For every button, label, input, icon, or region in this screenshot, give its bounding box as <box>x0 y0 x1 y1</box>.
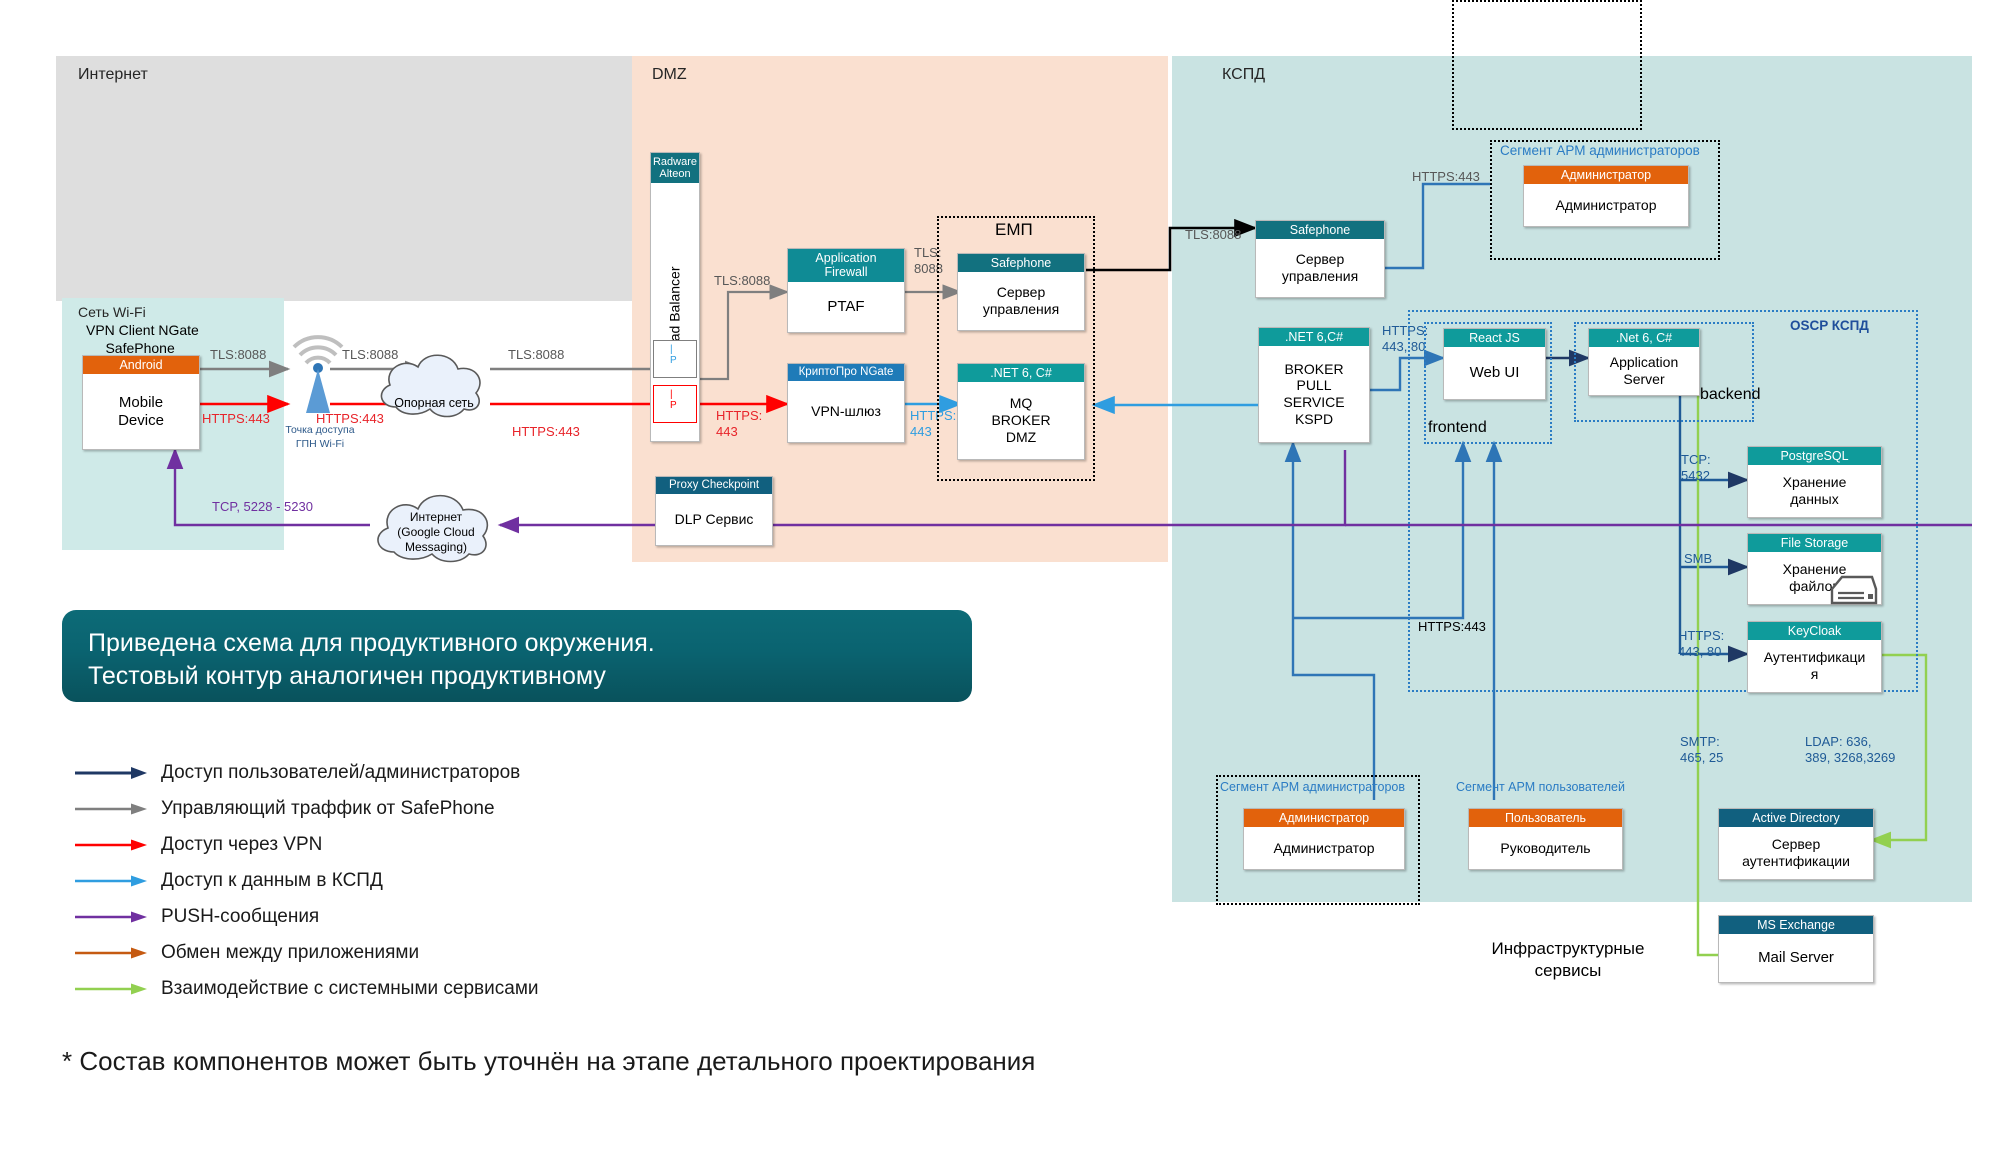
node-emp-mgmt-server[interactable]: Safephone Сервер управления <box>957 253 1085 331</box>
link-label-l21: SMTP: 465, 25 <box>1680 734 1723 765</box>
info-banner-text: Приведена схема для продуктивного окруже… <box>88 629 655 690</box>
legend-item: PUSH-сообщения <box>75 899 539 935</box>
link-label-l12: TCP, 5228 - 5230 <box>212 500 313 515</box>
lb-port-gray-glyph: |P <box>670 345 677 366</box>
node-web-ui-body: Web UI <box>1444 347 1545 399</box>
link-label-l13: HTTPS:443 <box>1412 170 1480 185</box>
wifi-client-label: VPN Client NGate SafePhone <box>86 322 199 357</box>
link-label-l2: TLS:8088 <box>342 348 398 363</box>
group-oscp-kspd-title: OSCP КСПД <box>1790 318 1869 333</box>
link-label-l17: TCP: 5432 <box>1681 452 1711 483</box>
node-admin-bottom[interactable]: Администратор Администратор <box>1243 808 1405 870</box>
node-mobile-device-body: Mobile Device <box>83 374 199 449</box>
legend-item: Взаимодействие с системными сервисами <box>75 971 539 1007</box>
node-file-storage-header: File Storage <box>1748 534 1881 552</box>
link-label-l19: HTTPS: 443, 80 <box>1678 628 1724 659</box>
node-ms-exchange[interactable]: MS Exchange Mail Server <box>1718 915 1874 983</box>
node-postgresql-header: PostgreSQL <box>1748 447 1881 465</box>
legend-item-label: Доступ через VPN <box>161 834 322 856</box>
node-vpn-gateway-header: КриптоПро NGate <box>788 364 904 381</box>
group-emp-title: ЕМП <box>995 220 1033 240</box>
legend-item: Доступ к данным в КСПД <box>75 863 539 899</box>
node-broker-pull-service[interactable]: .NET 6,C# BROKER PULL SERVICE KSPD <box>1258 327 1370 443</box>
link-label-l8: HTTPS: 443 <box>716 408 762 439</box>
link-label-l18: SMB <box>1684 552 1712 567</box>
node-broker-pull-service-body: BROKER PULL SERVICE KSPD <box>1259 346 1369 442</box>
node-web-ui-header: React JS <box>1444 329 1545 347</box>
footnote: * Состав компонентов может быть уточнён … <box>62 1046 1035 1077</box>
node-safephone-server-header: Safephone <box>1256 221 1384 239</box>
node-admin-top-body: Администратор <box>1524 184 1688 226</box>
node-dlp-service[interactable]: Proxy Checkpoint DLP Сервис <box>655 476 773 546</box>
node-ptaf-body: PTAF <box>788 282 904 332</box>
node-dlp-service-header: Proxy Checkpoint <box>656 477 772 494</box>
link-label-l14: TLS:8088 <box>1185 228 1241 243</box>
node-mobile-device-header: Android <box>83 356 199 374</box>
link-label-l22: LDAP: 636, 389, 3268,3269 <box>1805 734 1895 765</box>
node-user-bottom[interactable]: Пользователь Руководитель <box>1468 808 1623 870</box>
legend-item-label: Доступ пользователей/администраторов <box>161 762 520 784</box>
node-application-server-header: .Net 6, C# <box>1589 329 1699 347</box>
legend-item-label: Взаимодействие с системными сервисами <box>161 978 539 1000</box>
link-label-l7: TLS:8088 <box>714 274 770 289</box>
group-user-segment-bottom <box>1452 0 1642 130</box>
node-keycloak-body: Аутентификаци я <box>1748 640 1881 692</box>
node-active-directory[interactable]: Active Directory Сервер аутентификации <box>1718 808 1874 880</box>
legend-item-label: PUSH-сообщения <box>161 906 319 928</box>
node-admin-top-header: Администратор <box>1524 166 1688 184</box>
zone-wifi-label: Сеть Wi-Fi <box>78 304 146 320</box>
group-frontend-title: frontend <box>1428 419 1487 437</box>
group-admin-segment-bottom-title: Сегмент АРМ администраторов <box>1220 780 1405 794</box>
node-keycloak-header: KeyCloak <box>1748 622 1881 640</box>
node-vpn-gateway-body: VPN-шлюз <box>788 381 904 442</box>
node-mq-broker-dmz[interactable]: .NET 6, C# MQ BROKER DMZ <box>957 363 1085 460</box>
node-active-directory-header: Active Directory <box>1719 809 1873 827</box>
access-point-label: Точка доступа ГПН Wi-Fi <box>268 424 372 451</box>
node-ms-exchange-body: Mail Server <box>1719 934 1873 982</box>
legend-item-label: Доступ к данным в КСПД <box>161 870 383 892</box>
node-user-bottom-body: Руководитель <box>1469 827 1622 869</box>
link-label-l4: HTTPS:443 <box>202 412 270 427</box>
link-label-l1: TLS:8088 <box>210 348 266 363</box>
node-ptaf[interactable]: Application Firewall PTAF <box>787 248 905 333</box>
zone-internet-label: Интернет <box>78 66 148 84</box>
node-user-bottom-header: Пользователь <box>1469 809 1622 827</box>
node-web-ui[interactable]: React JS Web UI <box>1443 328 1546 400</box>
node-safephone-server[interactable]: Safephone Сервер управления <box>1255 220 1385 298</box>
storage-icon <box>1822 573 1878 609</box>
node-load-balancer-header: Radware Alteon <box>651 153 699 183</box>
node-admin-bottom-body: Администратор <box>1244 827 1404 869</box>
node-broker-pull-service-header: .NET 6,C# <box>1259 328 1369 346</box>
node-postgresql[interactable]: PostgreSQL Хранение данных <box>1747 446 1882 518</box>
infra-services-label: Инфраструктурные сервисы <box>1468 938 1668 982</box>
node-emp-mgmt-server-body: Сервер управления <box>958 272 1084 330</box>
legend-item-label: Обмен между приложениями <box>161 942 419 964</box>
group-admin-segment-top-title: Сегмент АРМ администраторов <box>1500 143 1700 158</box>
node-mq-broker-dmz-body: MQ BROKER DMZ <box>958 382 1084 459</box>
node-dlp-service-body: DLP Сервис <box>656 494 772 545</box>
node-admin-top[interactable]: Администратор Администратор <box>1523 165 1689 227</box>
cloud-core-network-label: Опорная сеть <box>386 396 482 410</box>
info-banner: Приведена схема для продуктивного окруже… <box>62 610 972 702</box>
node-ms-exchange-header: MS Exchange <box>1719 916 1873 934</box>
node-application-server-body: Application Server <box>1589 347 1699 395</box>
node-ptaf-header: Application Firewall <box>788 249 904 282</box>
legend-item: Доступ через VPN <box>75 827 539 863</box>
node-emp-mgmt-server-header: Safephone <box>958 254 1084 272</box>
node-mq-broker-dmz-header: .NET 6, C# <box>958 364 1084 382</box>
link-label-l5: HTTPS:443 <box>316 412 384 427</box>
legend-item: Управляющий траффик от SafePhone <box>75 791 539 827</box>
legend-item: Доступ пользователей/администраторов <box>75 755 539 791</box>
node-application-server[interactable]: .Net 6, C# Application Server <box>1588 328 1700 396</box>
legend-item-label: Управляющий траффик от SafePhone <box>161 798 495 820</box>
node-admin-bottom-header: Администратор <box>1244 809 1404 827</box>
zone-dmz-label: DMZ <box>652 66 687 84</box>
group-user-segment-bottom-title: Сегмент АРМ пользователей <box>1456 780 1625 794</box>
link-label-l3: TLS:8088 <box>508 348 564 363</box>
legend: Доступ пользователей/администраторов Упр… <box>75 755 539 1007</box>
node-active-directory-body: Сервер аутентификации <box>1719 827 1873 879</box>
cloud-gcm-label: Интернет (Google Cloud Messaging) <box>370 510 502 555</box>
node-keycloak[interactable]: KeyCloak Аутентификаци я <box>1747 621 1882 693</box>
group-backend-title: backend <box>1700 386 1761 404</box>
node-vpn-gateway[interactable]: КриптоПро NGate VPN-шлюз <box>787 363 905 443</box>
node-postgresql-body: Хранение данных <box>1748 465 1881 517</box>
legend-item: Обмен между приложениями <box>75 935 539 971</box>
zone-kspd-label: КСПД <box>1222 66 1265 84</box>
lb-port-red-glyph: |P <box>670 390 677 411</box>
link-label-l6: HTTPS:443 <box>512 425 580 440</box>
zone-internet <box>56 56 641 301</box>
link-label-l20: HTTPS:443 <box>1418 620 1486 635</box>
node-safephone-server-body: Сервер управления <box>1256 239 1384 297</box>
node-mobile-device[interactable]: Android Mobile Device <box>82 355 200 450</box>
